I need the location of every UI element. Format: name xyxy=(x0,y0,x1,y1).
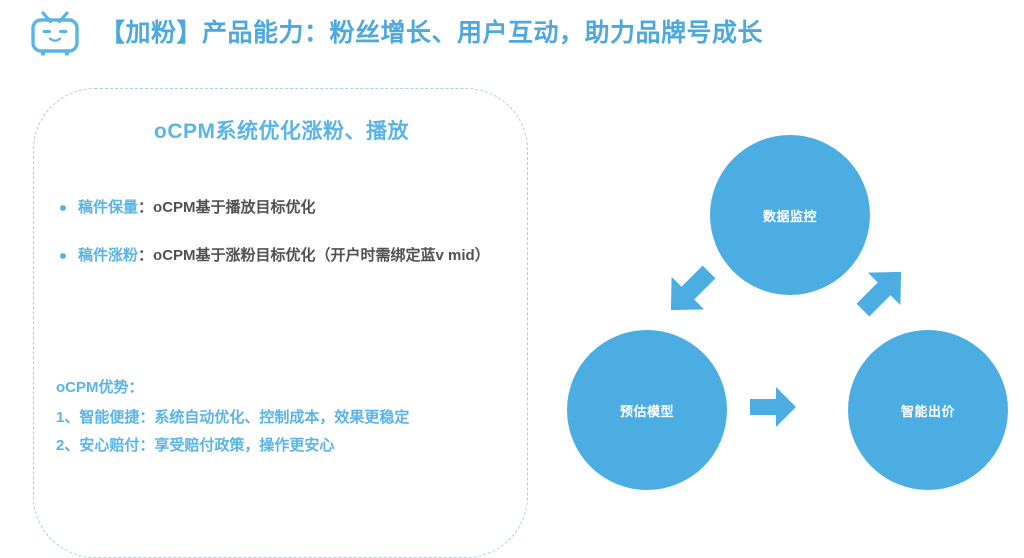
bullet-separator: ： xyxy=(138,199,153,216)
arrow-right-icon xyxy=(750,387,796,427)
diagram-node-prediction-model: 预估模型 xyxy=(567,330,727,490)
bullet-dot-icon xyxy=(60,253,66,259)
ocpm-advantages-block: oCPM优势： 1、智能便捷：系统自动优化、控制成本，效果更稳定 2、安心赔付：… xyxy=(56,374,506,460)
node-label: 智能出价 xyxy=(901,401,955,420)
bullet-text: oCPM基于播放目标优化 xyxy=(153,199,316,216)
bilibili-tv-icon xyxy=(28,10,82,58)
feature-bullet-list: 稿件保量：oCPM基于播放目标优化 稿件涨粉：oCPM基于涨粉目标优化（开户时需… xyxy=(56,193,511,289)
page-header: 【加粉】产品能力：粉丝增长、用户互动，助力品牌号成长 xyxy=(0,0,1024,72)
advantage-item-1: 1、智能便捷：系统自动优化、控制成本，效果更稳定 xyxy=(56,404,506,432)
node-label: 预估模型 xyxy=(620,401,674,420)
bullet-label: 稿件保量 xyxy=(78,199,138,216)
list-item: 稿件保量：oCPM基于播放目标优化 xyxy=(56,193,511,223)
bullet-separator: ： xyxy=(138,247,153,264)
advantages-heading: oCPM优势： xyxy=(56,374,506,402)
node-label: 数据监控 xyxy=(763,206,817,225)
list-item: 稿件涨粉：oCPM基于涨粉目标优化（开户时需绑定蓝v mid） xyxy=(56,241,511,271)
arrow-up-right-icon xyxy=(847,256,918,327)
bullet-text: oCPM基于涨粉目标优化（开户时需绑定蓝v mid） xyxy=(153,247,490,264)
arrow-down-left-icon xyxy=(655,256,726,327)
advantage-item-2: 2、安心赔付：享受赔付政策，操作更安心 xyxy=(56,432,506,460)
bullet-label: 稿件涨粉 xyxy=(78,247,138,264)
ocpm-info-card: oCPM系统优化涨粉、播放 稿件保量：oCPM基于播放目标优化 稿件涨粉：oCP… xyxy=(33,88,528,558)
diagram-node-smart-bidding: 智能出价 xyxy=(848,330,1008,490)
page-title: 【加粉】产品能力：粉丝增长、用户互动，助力品牌号成长 xyxy=(100,13,763,53)
bullet-dot-icon xyxy=(60,205,66,211)
card-title: oCPM系统优化涨粉、播放 xyxy=(34,115,529,145)
diagram-node-data-monitor: 数据监控 xyxy=(710,135,870,295)
ocpm-cycle-diagram: 数据监控 预估模型 智能出价 xyxy=(545,105,1024,525)
